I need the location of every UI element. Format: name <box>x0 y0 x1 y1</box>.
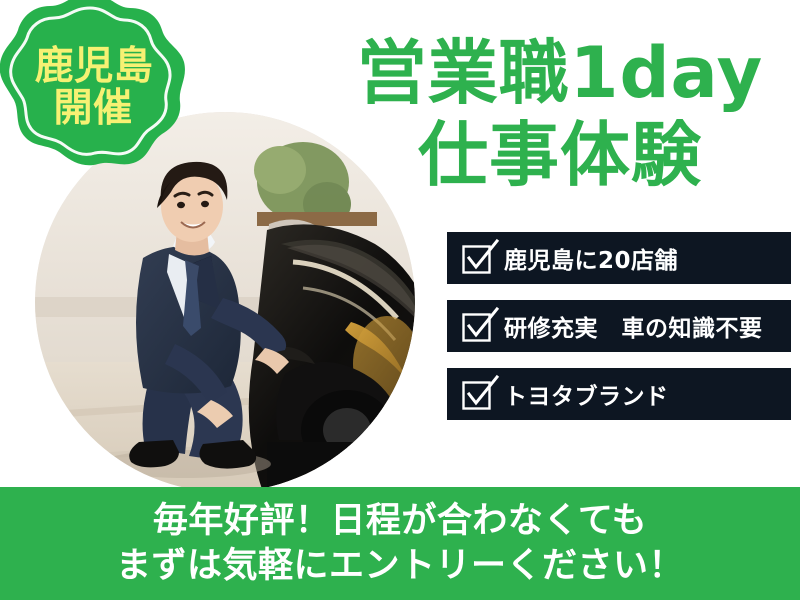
badge-line-1: 鹿児島 <box>35 46 154 88</box>
checkbox-checked-icon <box>461 309 495 343</box>
headline-line-2: 仕事体験 <box>330 118 790 194</box>
feature-checklist: 鹿児島に20店舗 研修充実 車の知識不要 トヨタブランド <box>447 232 791 420</box>
checklist-item-2-label: 研修充実 車の知識不要 <box>504 309 763 343</box>
checklist-item-2: 研修充実 車の知識不要 <box>447 300 791 352</box>
poster-root: 鹿児島 開催 営業職1day 仕事体験 鹿児島に20店舗 <box>0 0 800 600</box>
badge-text-block: 鹿児島 開催 <box>0 0 190 180</box>
checkbox-checked-icon <box>461 377 495 411</box>
checkbox-checked-icon <box>461 241 495 275</box>
headline-line-1: 営業職1day <box>330 36 790 112</box>
banner-line-1: 毎年好評！日程が合わなくても <box>153 499 647 544</box>
page-title: 営業職1day 仕事体験 <box>330 36 790 193</box>
banner-line-2: まずは気軽にエントリーください！ <box>116 544 684 589</box>
kagoshima-event-badge: 鹿児島 開催 <box>0 0 190 180</box>
badge-line-2: 開催 <box>53 88 132 130</box>
checklist-item-3: トヨタブランド <box>447 368 791 420</box>
checklist-item-1: 鹿児島に20店舗 <box>447 232 791 284</box>
bottom-cta-banner: 毎年好評！日程が合わなくても まずは気軽にエントリーください！ <box>0 487 800 600</box>
checklist-item-1-label: 鹿児島に20店舗 <box>504 241 678 275</box>
checklist-item-3-label: トヨタブランド <box>504 377 669 411</box>
